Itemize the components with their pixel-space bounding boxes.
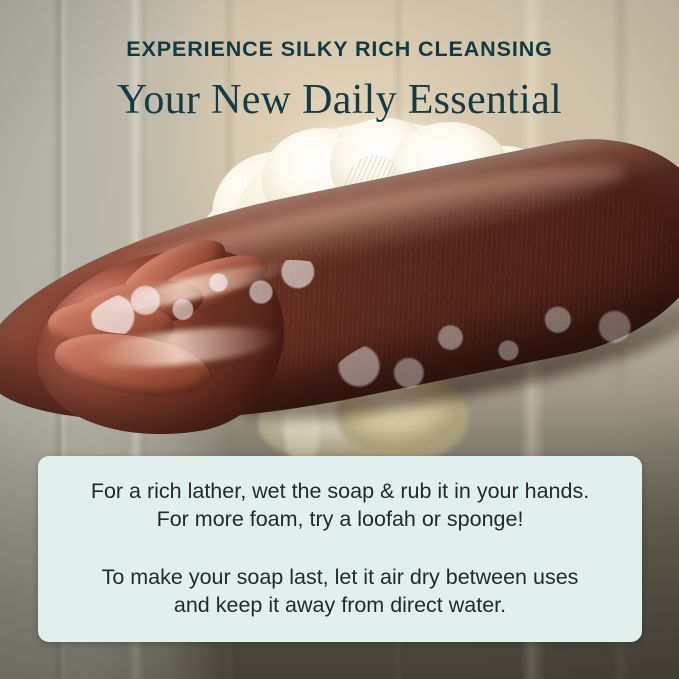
- instruction-paragraph-1: For a rich lather, wet the soap & rub it…: [64, 478, 616, 534]
- instruction-line: To make your soap last, let it air dry b…: [64, 564, 616, 592]
- page-title: Your New Daily Essential: [0, 76, 679, 126]
- instruction-line: For a rich lather, wet the soap & rub it…: [64, 478, 616, 506]
- product-lifestyle-ad-card: EXPERIENCE SILKY RICH CLEANSING Your New…: [0, 0, 679, 679]
- usage-instructions-panel: For a rich lather, wet the soap & rub it…: [38, 456, 642, 642]
- instruction-line: and keep it away from direct water.: [64, 592, 616, 620]
- eyebrow-headline: EXPERIENCE SILKY RICH CLEANSING: [0, 38, 679, 62]
- instruction-line: For more foam, try a loofah or sponge!: [64, 506, 616, 534]
- instruction-paragraph-2: To make your soap last, let it air dry b…: [64, 564, 616, 620]
